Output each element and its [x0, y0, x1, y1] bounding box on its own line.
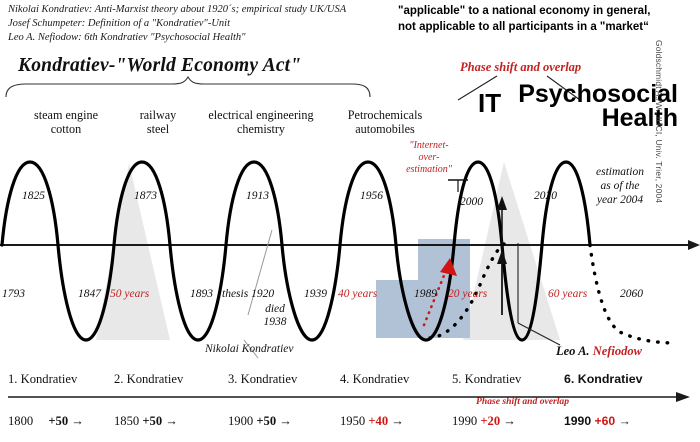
estimation-note-line-1: estimation	[572, 165, 668, 179]
timeline-axis-bottom	[0, 392, 700, 406]
kondratiev-header-row: 1. Kondratiev 2. Kondratiev 3. Kondratie…	[0, 372, 700, 394]
era-label-3: electrical engineering chemistry	[186, 108, 336, 137]
year-4-arrow: →	[391, 414, 404, 428]
duration-label-40-years: 40 years	[338, 288, 377, 300]
year-1-arrow: →	[71, 414, 84, 428]
kondratiev-died-word: died	[252, 303, 298, 316]
year-cell-2: 1850 +50 →	[114, 414, 178, 429]
year-6-delta: +60	[595, 414, 616, 428]
year-2-arrow: →	[165, 414, 178, 428]
year-cell-3: 1900 +50 →	[228, 414, 292, 429]
year-4-value: 1950	[340, 414, 365, 428]
it-label: IT	[478, 88, 501, 119]
internet-over-line-1: "Internet-	[396, 140, 462, 152]
nefiodow-first: Leo A.	[556, 344, 593, 358]
nefiodow-last: Nefiodow	[593, 344, 642, 358]
credit-line-2: Josef Schumpeter: Definition of a "Kondr…	[8, 17, 388, 31]
year-2-value: 1850	[114, 414, 139, 428]
credit-line-3: Leo A. Nefiodow: 6th Kondratiev "Psychos…	[8, 31, 388, 45]
estimation-note-line-2: as of the	[572, 179, 668, 193]
kondratiev-label-1: 1. Kondratiev	[8, 372, 77, 387]
trough-year-1893: 1893	[190, 288, 213, 300]
credit-line-1: Nikolai Kondratiev: Anti-Marxist theory …	[8, 3, 388, 17]
credits-block: Nikolai Kondratiev: Anti-Marxist theory …	[8, 3, 388, 45]
kondratiev-label-3: 3. Kondratiev	[228, 372, 297, 387]
year-cell-4: 1950 +40 →	[340, 414, 404, 429]
applicable-note: "applicable" to a national economy in ge…	[398, 4, 698, 35]
era-3-line-1: electrical engineering	[186, 108, 336, 122]
duration-label-60-years: 60 years	[548, 288, 587, 300]
phase-shift-note-bottom: Phase shift and overlap	[476, 396, 569, 407]
year-3-arrow: →	[279, 414, 292, 428]
year-1-delta: +50	[48, 414, 68, 428]
year-2-delta: +50	[142, 414, 162, 428]
peak-year-2020: 2020	[534, 190, 557, 202]
internet-over-line-3: estimation"	[396, 164, 462, 176]
kondratiev-label-6: 6. Kondratiev	[564, 372, 643, 386]
duration-label-50-years: 50 years	[110, 288, 149, 300]
kondratiev-label-5: 5. Kondratiev	[452, 372, 521, 387]
kondratiev-label-4: 4. Kondratiev	[340, 372, 409, 387]
kondratiev-died-year: 1938	[252, 316, 298, 329]
year-cell-5: 1990 +20 →	[452, 414, 516, 429]
estimation-note: estimation as of the year 2004	[572, 165, 668, 207]
trough-year-1793: 1793	[2, 288, 25, 300]
trough-year-2060: 2060	[620, 288, 643, 300]
trough-year-1847: 1847	[78, 288, 101, 300]
peak-year-1825: 1825	[22, 190, 45, 202]
peak-year-2000: 2000	[460, 196, 483, 208]
peak-year-1913: 1913	[246, 190, 269, 202]
kondratiev-year-row: 1800 +50 → 1850 +50 → 1900 +50 → 1950 +4…	[0, 414, 700, 438]
era-4-line-2: automobiles	[330, 122, 440, 136]
era-label-4: Petrochemicals automobiles	[330, 108, 440, 137]
year-5-value: 1990	[452, 414, 477, 428]
year-4-delta: +40	[368, 414, 388, 428]
year-3-value: 1900	[228, 414, 253, 428]
kondratiev-label-2: 2. Kondratiev	[114, 372, 183, 387]
applicable-line-2: not applicable to all participants in a …	[398, 20, 698, 36]
year-cell-6: 1990 +60 →	[564, 414, 631, 428]
era-brace	[4, 76, 374, 98]
era-3-line-2: chemistry	[186, 122, 336, 136]
year-cell-1: 1800 +50 →	[8, 414, 84, 429]
year-3-delta: +50	[256, 414, 276, 428]
duration-label-20-years: 20 years	[448, 288, 487, 300]
kondratiev-wave-diagram: Nikolai Kondratiev: Anti-Marxist theory …	[0, 0, 700, 442]
gray-region-cycle2	[96, 163, 170, 340]
peak-year-1956: 1956	[360, 190, 383, 202]
phase-shift-label: Phase shift and overlap	[460, 60, 581, 75]
nefiodow-name-label: Leo A. Nefiodow	[556, 344, 642, 359]
year-5-delta: +20	[480, 414, 500, 428]
internet-over-line-2: over-	[396, 152, 462, 164]
year-1-value: 1800	[8, 414, 33, 428]
era-4-line-1: Petrochemicals	[330, 108, 440, 122]
year-6-value: 1990	[564, 414, 591, 428]
year-6-arrow: →	[619, 414, 631, 428]
year-5-arrow: →	[503, 414, 516, 428]
peak-year-1873: 1873	[134, 190, 157, 202]
trough-year-1989: 1989	[414, 288, 437, 300]
page-title: Kondratiev-"World Economy Act"	[18, 55, 301, 77]
estimation-note-line-3: year 2004	[572, 193, 668, 207]
kondratiev-name-label: Nikolai Kondratiev	[205, 343, 293, 355]
internet-overestimation-label: "Internet- over- estimation"	[396, 140, 462, 175]
kondratiev-thesis-label: thesis 1920	[222, 288, 274, 300]
time-axis-arrowhead	[688, 240, 700, 250]
kondratiev-died-label: died 1938	[252, 303, 298, 330]
trough-year-1939: 1939	[304, 288, 327, 300]
applicable-line-1: "applicable" to a national economy in ge…	[398, 4, 698, 20]
